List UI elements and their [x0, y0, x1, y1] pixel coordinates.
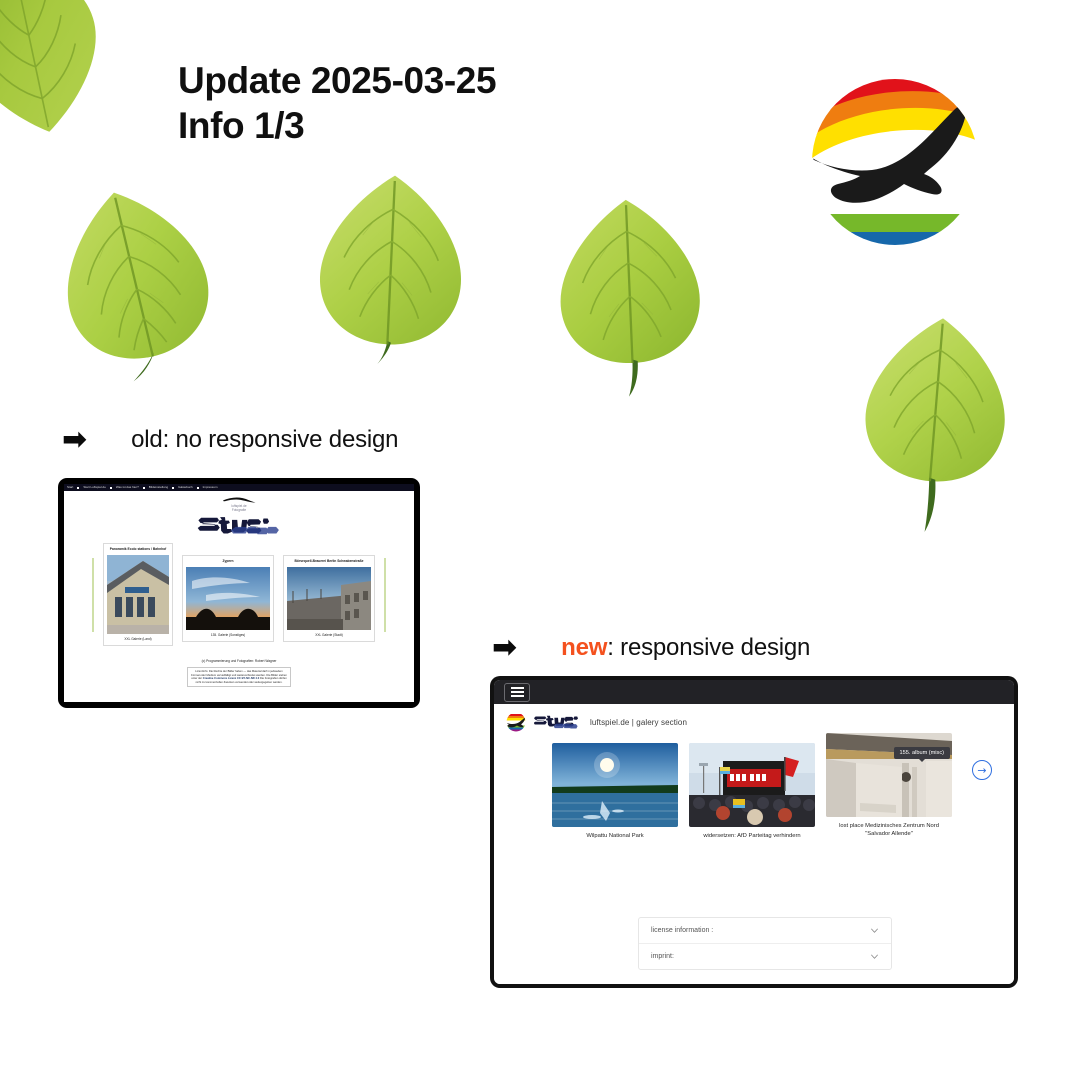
old-credit-line: (c) Programmierung und Fotografien: Robe… — [64, 659, 414, 663]
carousel-prev-track[interactable] — [92, 558, 94, 632]
old-bird-subcaption: Fotografie — [64, 508, 414, 512]
accordion-imprint[interactable]: imprint: — [639, 943, 891, 969]
page-title: Update 2025-03-25 Info 1/3 — [178, 58, 496, 148]
nav-bullet-icon — [77, 487, 79, 489]
gallery-caption: lost place Medizinisches Zentrum Nord "S… — [839, 822, 939, 838]
new-responsive-website-screenshot: luftspiel.de | galery section 155. album… — [490, 676, 1018, 988]
nav-bullet-icon — [110, 487, 112, 489]
carousel-next-track[interactable] — [384, 558, 386, 632]
old-nav-item-5[interactable]: Impressum — [203, 484, 218, 491]
slide-canvas: Update 2025-03-25 Info 1/3 ➡ — [0, 0, 1080, 1080]
old-gallery-card[interactable]: Börsequell-Brauerei Berlin Schwabenstraß… — [283, 555, 375, 642]
leaf-2 — [307, 165, 474, 370]
accordion-label: license information : — [651, 927, 713, 934]
gallery-item-lake[interactable]: Wilpattu National Park — [552, 743, 678, 840]
old-card-title: Börsequell-Brauerei Berlin Schwabenstraß… — [295, 559, 364, 564]
old-card-caption: XXL Galerie (Stadt) — [315, 633, 343, 637]
new-screen: luftspiel.de | galery section 155. album… — [494, 680, 1014, 984]
callout-old-label: old: no responsive design — [131, 426, 398, 454]
old-nav-bar[interactable]: Start Start Luftspiel.de Was ist das hie… — [64, 484, 414, 491]
leaf-4 — [847, 300, 1021, 545]
gallery-photo-protest — [689, 743, 815, 827]
hamburger-menu-icon[interactable] — [504, 683, 530, 702]
gallery-caption: Wilpattu National Park — [586, 832, 643, 840]
old-license-box: Lizenzinfo: Die Rechte der Bilder haben … — [187, 667, 291, 687]
bird-silhouette-icon — [222, 495, 256, 504]
old-gallery-card[interactable]: Zypern — [182, 555, 274, 642]
old-nav-item-3[interactable]: Bildeinstellung — [149, 484, 168, 491]
luftspiel-rainbow-bird-logo — [812, 62, 978, 262]
leaf-top-left-corner — [0, 0, 124, 154]
old-card-caption: 135. Galerie (Sonstiges) — [211, 633, 245, 637]
old-nav-item-1[interactable]: Start Luftspiel.de — [83, 484, 106, 491]
accordion-license-information[interactable]: license information : — [639, 918, 891, 943]
callout-old: ➡ old: no responsive design — [62, 425, 398, 455]
album-tooltip: 155. album (misc) — [894, 747, 950, 759]
gallery-photo-lake — [552, 743, 678, 827]
callout-new-highlight: new — [561, 634, 607, 661]
old-screen: Start Start Luftspiel.de Was ist das hie… — [64, 484, 414, 702]
nav-bullet-icon — [172, 487, 174, 489]
status-quo-wordmark — [534, 714, 582, 731]
old-nav-item-4[interactable]: Gästebuch — [178, 484, 193, 491]
old-card-title: Panoramik Ecolo stations / Bahnhof — [110, 547, 166, 552]
old-nav-item-0[interactable]: Start — [67, 484, 73, 491]
old-card-photo-industrial — [287, 567, 371, 630]
old-nav-item-2[interactable]: Was ist das hier? — [116, 484, 139, 491]
old-card-photo-building — [107, 555, 169, 634]
footer-accordions: license information : imprint: — [638, 917, 892, 970]
new-body: luftspiel.de | galery section 155. album… — [494, 704, 1014, 984]
callout-new-rest: : responsive design — [607, 634, 810, 661]
gallery-photo-lostplace — [826, 733, 952, 817]
new-site-title: luftspiel.de | galery section — [590, 718, 687, 727]
old-card-title: Zypern — [223, 559, 234, 564]
old-gallery-carousel: Panoramik Ecolo stations / Bahnhof — [64, 543, 414, 646]
old-brand-header: luftspiel.de Fotografie — [64, 491, 414, 535]
leaf-1 — [31, 168, 238, 397]
chevron-down-icon[interactable] — [870, 952, 879, 961]
gallery-caption: widersetzen: AfD Parteitag verhindern — [703, 832, 800, 840]
new-top-bar — [494, 680, 1014, 704]
arrow-right-circle-icon[interactable]: → — [972, 760, 992, 780]
old-gallery-card[interactable]: Panoramik Ecolo stations / Bahnhof — [103, 543, 173, 646]
arrow-right-icon: ➡ — [62, 425, 87, 455]
old-card-photo-sunset — [186, 567, 270, 630]
leaf-3 — [544, 184, 713, 407]
gallery-item-protest[interactable]: widersetzen: AfD Parteitag verhindern — [689, 743, 815, 840]
callout-new: ➡ new: responsive design — [492, 633, 810, 663]
luftspiel-mini-logo-icon — [506, 712, 526, 732]
arrow-right-icon: ➡ — [492, 633, 517, 663]
new-site-header: luftspiel.de | galery section — [506, 712, 1002, 732]
callout-new-label: new: responsive design — [561, 634, 810, 662]
old-card-caption: XXL Galerie (Land) — [124, 637, 151, 641]
accordion-label: imprint: — [651, 953, 674, 960]
nav-bullet-icon — [143, 487, 145, 489]
status-quo-wordmark — [197, 515, 281, 535]
chevron-down-icon[interactable] — [870, 926, 879, 935]
nav-bullet-icon — [197, 487, 199, 489]
old-website-screenshot: Start Start Luftspiel.de Was ist das hie… — [58, 478, 420, 708]
